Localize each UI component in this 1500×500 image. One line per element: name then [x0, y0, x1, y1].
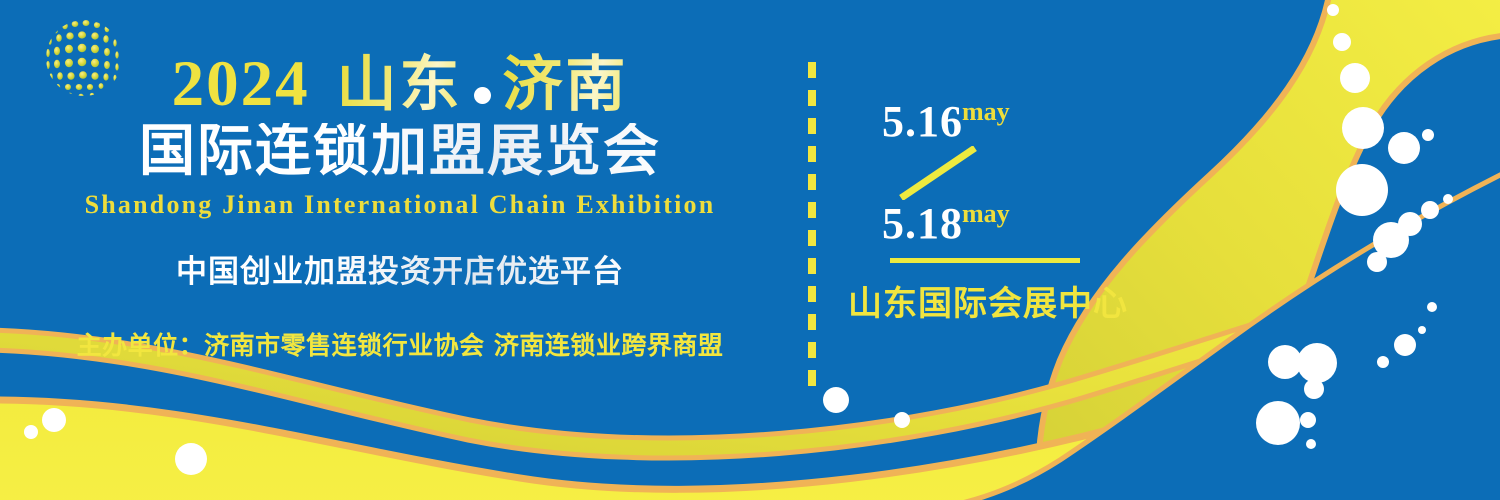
dashed-divider — [808, 62, 816, 392]
venue-text: 山东国际会展中心 — [848, 276, 1128, 325]
start-date: 5.16may — [882, 100, 1011, 144]
slogan-text: 中国创业加盟投资开店优选平台 — [0, 246, 800, 291]
year-text: 2024 — [172, 48, 310, 120]
end-date-number: 5.18 — [882, 199, 963, 248]
exhibition-banner: 2024 山东 济南 国际连锁加盟展览会 Shandong Jinan Inte… — [0, 0, 1500, 500]
date-slash-icon — [898, 146, 978, 200]
english-subtitle: Shandong Jinan International Chain Exhib… — [0, 190, 800, 220]
end-date-month: may — [962, 199, 1010, 228]
start-date-month: may — [962, 97, 1010, 126]
organizer-text: 主办单位：济南市零售连锁行业协会 济南连锁业跨界商盟 — [0, 326, 800, 362]
separator-dot — [474, 87, 491, 104]
title-line-2: 国际连锁加盟展览会 — [0, 123, 800, 182]
city-left-text: 山东 — [337, 50, 463, 120]
headline-block: 2024 山东 济南 国际连锁加盟展览会 Shandong Jinan Inte… — [0, 52, 800, 362]
city-right-text: 济南 — [502, 50, 628, 120]
title-line-1: 2024 山东 济南 — [0, 52, 800, 117]
date-underline — [890, 258, 1080, 263]
end-date: 5.18may — [882, 202, 1011, 246]
date-venue-block: 5.16may 5.18may 山东国际会展中心 — [820, 90, 1150, 330]
start-date-number: 5.16 — [882, 97, 963, 146]
